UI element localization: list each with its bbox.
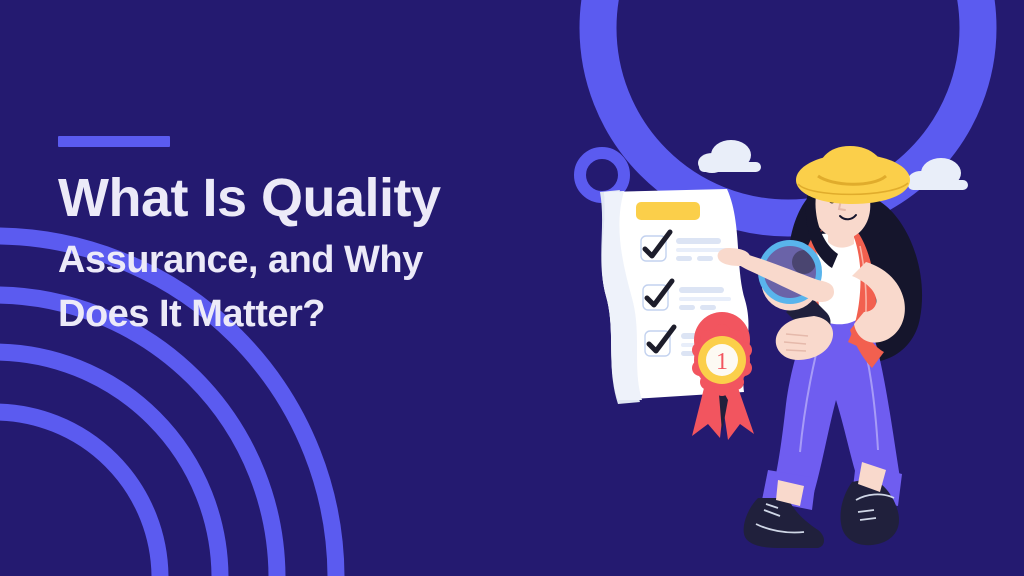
banner-canvas: 1 What Is Quality Assurance, and Why Doe… bbox=[0, 0, 1024, 576]
paper-line-2c bbox=[679, 305, 695, 310]
accent-bar bbox=[58, 136, 170, 147]
paper-header-bar bbox=[636, 202, 700, 220]
paper-line-2d bbox=[700, 305, 716, 310]
title-line-2: Assurance, and Why bbox=[58, 233, 578, 287]
rosette-number: 1 bbox=[716, 349, 728, 375]
paper-line-2a bbox=[679, 287, 724, 293]
title-line-1: What Is Quality bbox=[58, 167, 578, 229]
paper-line-1c bbox=[676, 256, 692, 261]
page-title: What Is Quality Assurance, and Why Does … bbox=[58, 167, 578, 341]
paper-line-2b bbox=[679, 297, 731, 301]
headline-block: What Is Quality Assurance, and Why Does … bbox=[58, 136, 578, 341]
title-line-3: Does It Matter? bbox=[58, 287, 578, 341]
paper-line-1d bbox=[697, 256, 713, 261]
hat-crown bbox=[818, 146, 886, 194]
paper-line-1a bbox=[676, 238, 721, 244]
